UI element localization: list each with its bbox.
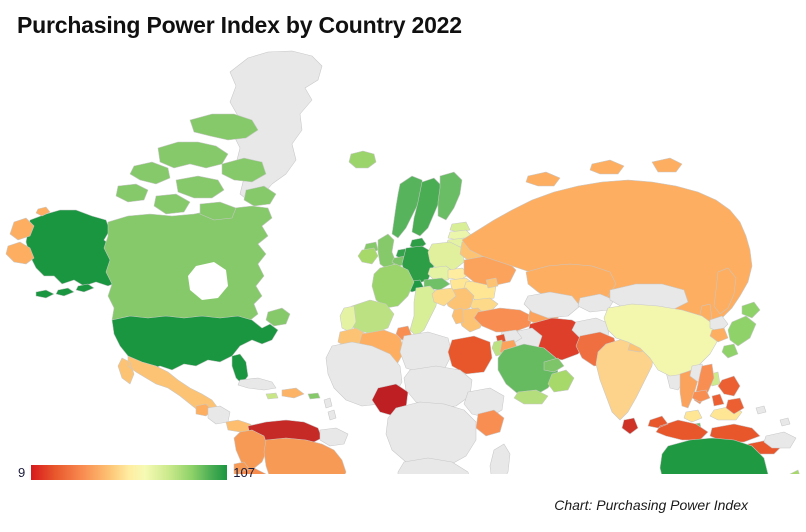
legend-gradient-bar [31, 465, 227, 480]
chart-caption: Chart: Purchasing Power Index [554, 497, 748, 513]
country-cuba[interactable] [238, 378, 276, 390]
country-egypt[interactable] [448, 336, 492, 374]
world-choropleth-map[interactable] [0, 44, 806, 474]
country-jamaica[interactable] [266, 393, 278, 399]
country-aleutian-islands[interactable] [36, 284, 94, 298]
country-portugal[interactable] [340, 306, 356, 332]
country-france[interactable] [372, 264, 414, 308]
page-title: Purchasing Power Index by Country 2022 [17, 12, 462, 39]
country-pacific-islands[interactable] [756, 406, 790, 426]
country-iceland[interactable] [349, 151, 376, 168]
legend-max-label: 107 [233, 465, 255, 480]
legend-min-label: 9 [18, 465, 25, 480]
country-canada-newfoundland[interactable] [266, 308, 290, 326]
country-honduras-nicaragua[interactable] [208, 406, 230, 424]
color-legend: 9 107 [18, 462, 255, 482]
country-guyana-suriname[interactable] [320, 428, 348, 446]
country-ireland[interactable] [358, 248, 378, 264]
country-yemen[interactable] [514, 390, 548, 404]
country-papua-new-guinea[interactable] [764, 432, 796, 448]
country-sri-lanka[interactable] [622, 418, 638, 434]
chart-root: Purchasing Power Index by Country 2022 [0, 0, 806, 532]
map-svg[interactable] [0, 44, 806, 474]
country-madagascar[interactable] [490, 444, 510, 474]
country-new-zealand[interactable] [770, 470, 802, 474]
country-central-africa[interactable] [386, 402, 476, 468]
country-albania[interactable] [452, 308, 464, 324]
country-hispaniola[interactable] [282, 388, 304, 398]
country-puerto-rico[interactable] [308, 393, 320, 399]
country-turkey[interactable] [474, 308, 532, 332]
country-finland[interactable] [438, 172, 462, 220]
country-lesser-antilles[interactable] [324, 398, 336, 420]
country-moldova[interactable] [486, 278, 498, 288]
country-sudan-chad[interactable] [404, 366, 472, 408]
country-canada-arctic-islands[interactable] [116, 114, 276, 220]
country-kenya[interactable] [476, 410, 504, 436]
